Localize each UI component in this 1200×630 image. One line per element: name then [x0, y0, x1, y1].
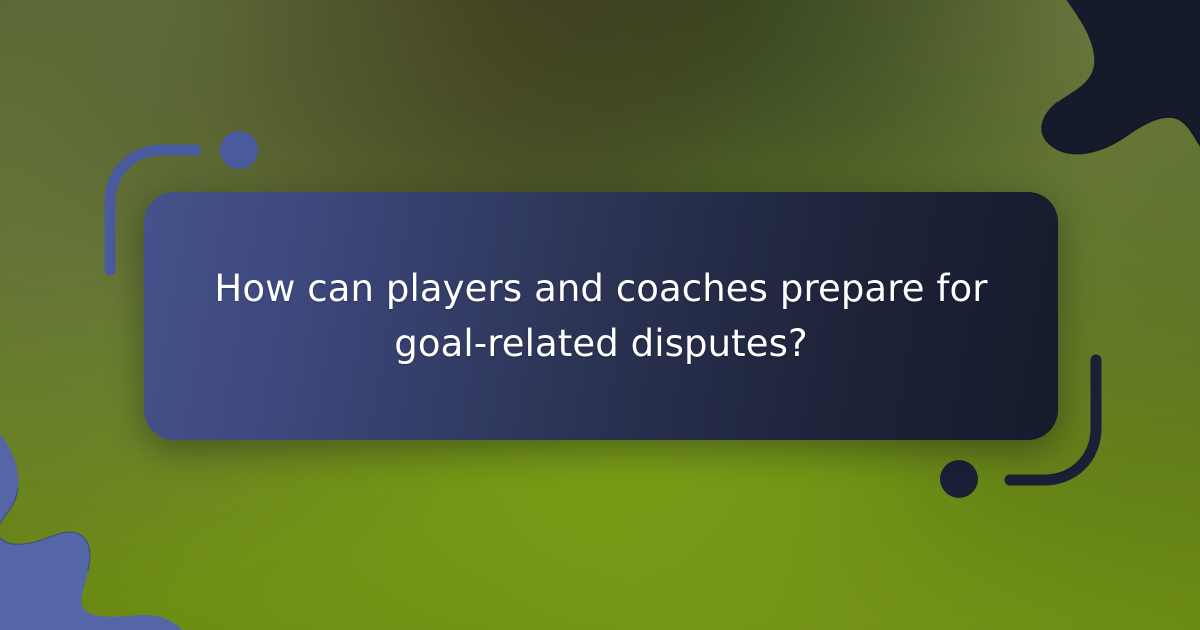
circle-dot-bottom-right — [940, 460, 978, 498]
social-card-canvas: How can players and coaches prepare for … — [0, 0, 1200, 630]
quote-card: How can players and coaches prepare for … — [144, 192, 1058, 440]
circle-dot-top-left — [220, 131, 258, 169]
card-title: How can players and coaches prepare for … — [144, 261, 1058, 372]
